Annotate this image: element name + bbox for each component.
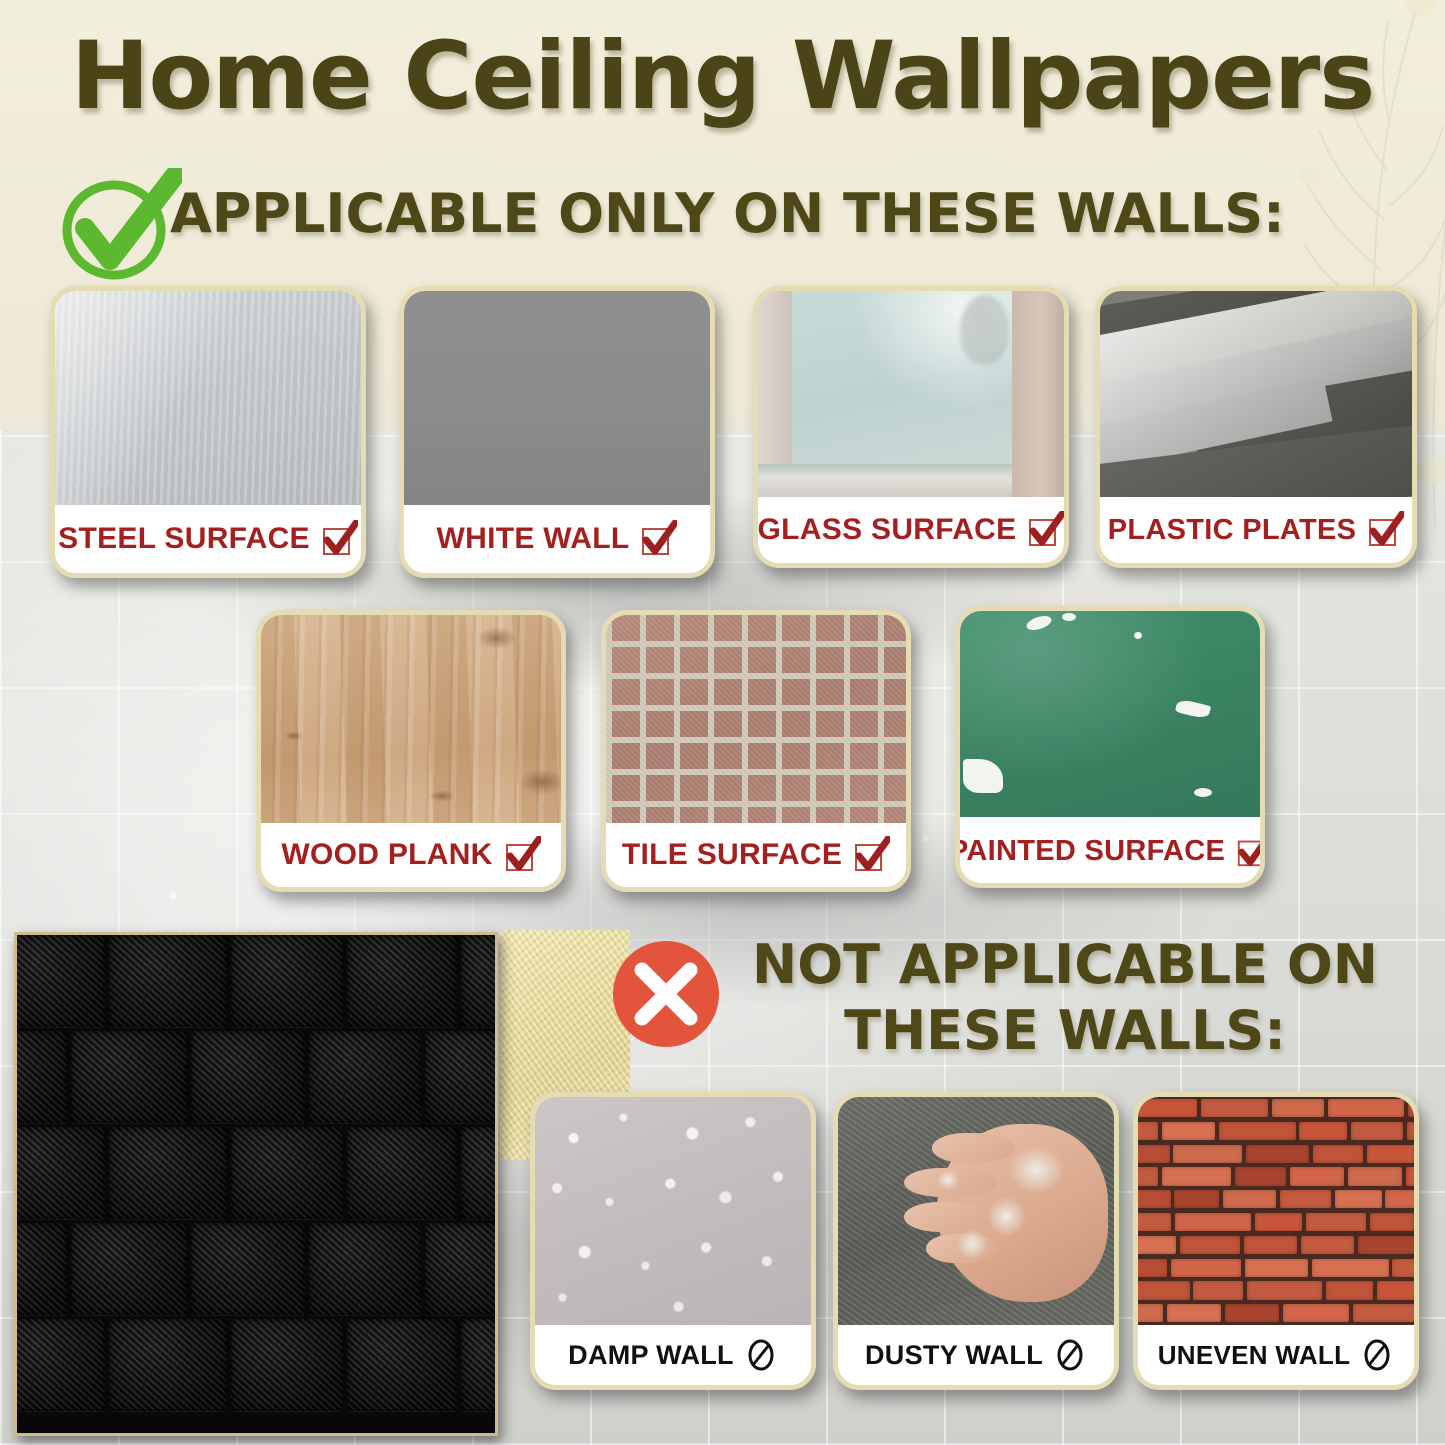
surface-label: WOOD PLANK — [281, 838, 492, 872]
black-brick-wallpaper-panel — [14, 932, 498, 1436]
surface-card-caption: GLASS SURFACE — [758, 497, 1064, 563]
tile-surface-photo — [606, 615, 906, 823]
surface-card-caption: DUSTY WALL — [838, 1325, 1114, 1385]
surface-card-caption: PLASTIC PLATES — [1100, 497, 1412, 563]
not-applicable-heading-line2: THESE WALLS: — [740, 998, 1390, 1064]
red-check-box-icon — [639, 520, 677, 558]
damp-wall-photo — [535, 1097, 811, 1325]
surface-card-caption: PAINTED SURFACE — [960, 819, 1260, 883]
page-title: Home Ceiling Wallpapers — [0, 22, 1445, 131]
wood-plank-photo — [261, 615, 561, 823]
surface-label: WHITE WALL — [437, 522, 630, 556]
surface-card-caption: TILE SURFACE — [606, 823, 906, 887]
surface-card-caption: DAMP WALL — [535, 1325, 811, 1385]
green-check-circle-icon — [52, 168, 182, 283]
prohibited-icon — [1053, 1338, 1087, 1372]
surface-card-wood: WOOD PLANK — [256, 610, 566, 892]
surface-card-painted: PAINTED SURFACE — [955, 606, 1265, 888]
prohibited-icon — [1360, 1338, 1394, 1372]
painted-surface-photo — [960, 611, 1260, 817]
surface-card-damp: DAMP WALL — [530, 1092, 816, 1390]
infographic-poster: Home Ceiling Wallpapers APPLICABLE ONLY … — [0, 0, 1445, 1445]
surface-card-tile: TILE SURFACE — [601, 610, 911, 892]
prohibited-icon — [744, 1338, 778, 1372]
surface-card-caption: STEEL SURFACE — [55, 505, 361, 573]
surface-label: DUSTY WALL — [865, 1340, 1043, 1371]
dusty-wall-photo — [838, 1097, 1114, 1325]
red-check-box-icon — [320, 520, 358, 558]
red-check-box-icon — [503, 836, 541, 874]
uneven-brick-wall-photo — [1138, 1097, 1414, 1325]
surface-card-caption: WOOD PLANK — [261, 823, 561, 887]
surface-card-glass: GLASS SURFACE — [753, 286, 1069, 568]
steel-surface-photo — [55, 291, 361, 505]
red-check-box-icon — [1235, 833, 1265, 869]
surface-label: PLASTIC PLATES — [1108, 514, 1357, 547]
surface-label: TILE SURFACE — [622, 838, 842, 872]
not-applicable-heading: NOT APPLICABLE ON THESE WALLS: — [740, 932, 1390, 1064]
surface-label: STEEL SURFACE — [58, 522, 310, 556]
red-check-box-icon — [852, 836, 890, 874]
white-wall-photo — [404, 291, 710, 505]
surface-card-caption: WHITE WALL — [404, 505, 710, 573]
glass-surface-photo — [758, 291, 1064, 497]
surface-label: GLASS SURFACE — [758, 513, 1017, 547]
surface-card-caption: UNEVEN WALL — [1138, 1325, 1414, 1385]
surface-card-steel: STEEL SURFACE — [50, 286, 366, 578]
surface-label: DAMP WALL — [568, 1340, 734, 1371]
not-applicable-heading-line1: NOT APPLICABLE ON — [740, 932, 1390, 998]
surface-card-dusty: DUSTY WALL — [833, 1092, 1119, 1390]
surface-card-white-wall: WHITE WALL — [399, 286, 715, 578]
plastic-plates-photo — [1100, 291, 1412, 497]
surface-card-uneven: UNEVEN WALL — [1133, 1092, 1419, 1390]
red-check-box-icon — [1366, 511, 1404, 549]
applicable-heading: APPLICABLE ONLY ON THESE WALLS: — [170, 182, 1410, 245]
surface-label: UNEVEN WALL — [1158, 1340, 1351, 1371]
red-check-box-icon — [1026, 511, 1064, 549]
surface-card-plastic: PLASTIC PLATES — [1095, 286, 1417, 568]
red-x-circle-icon — [612, 940, 720, 1048]
surface-label: PAINTED SURFACE — [955, 835, 1225, 868]
